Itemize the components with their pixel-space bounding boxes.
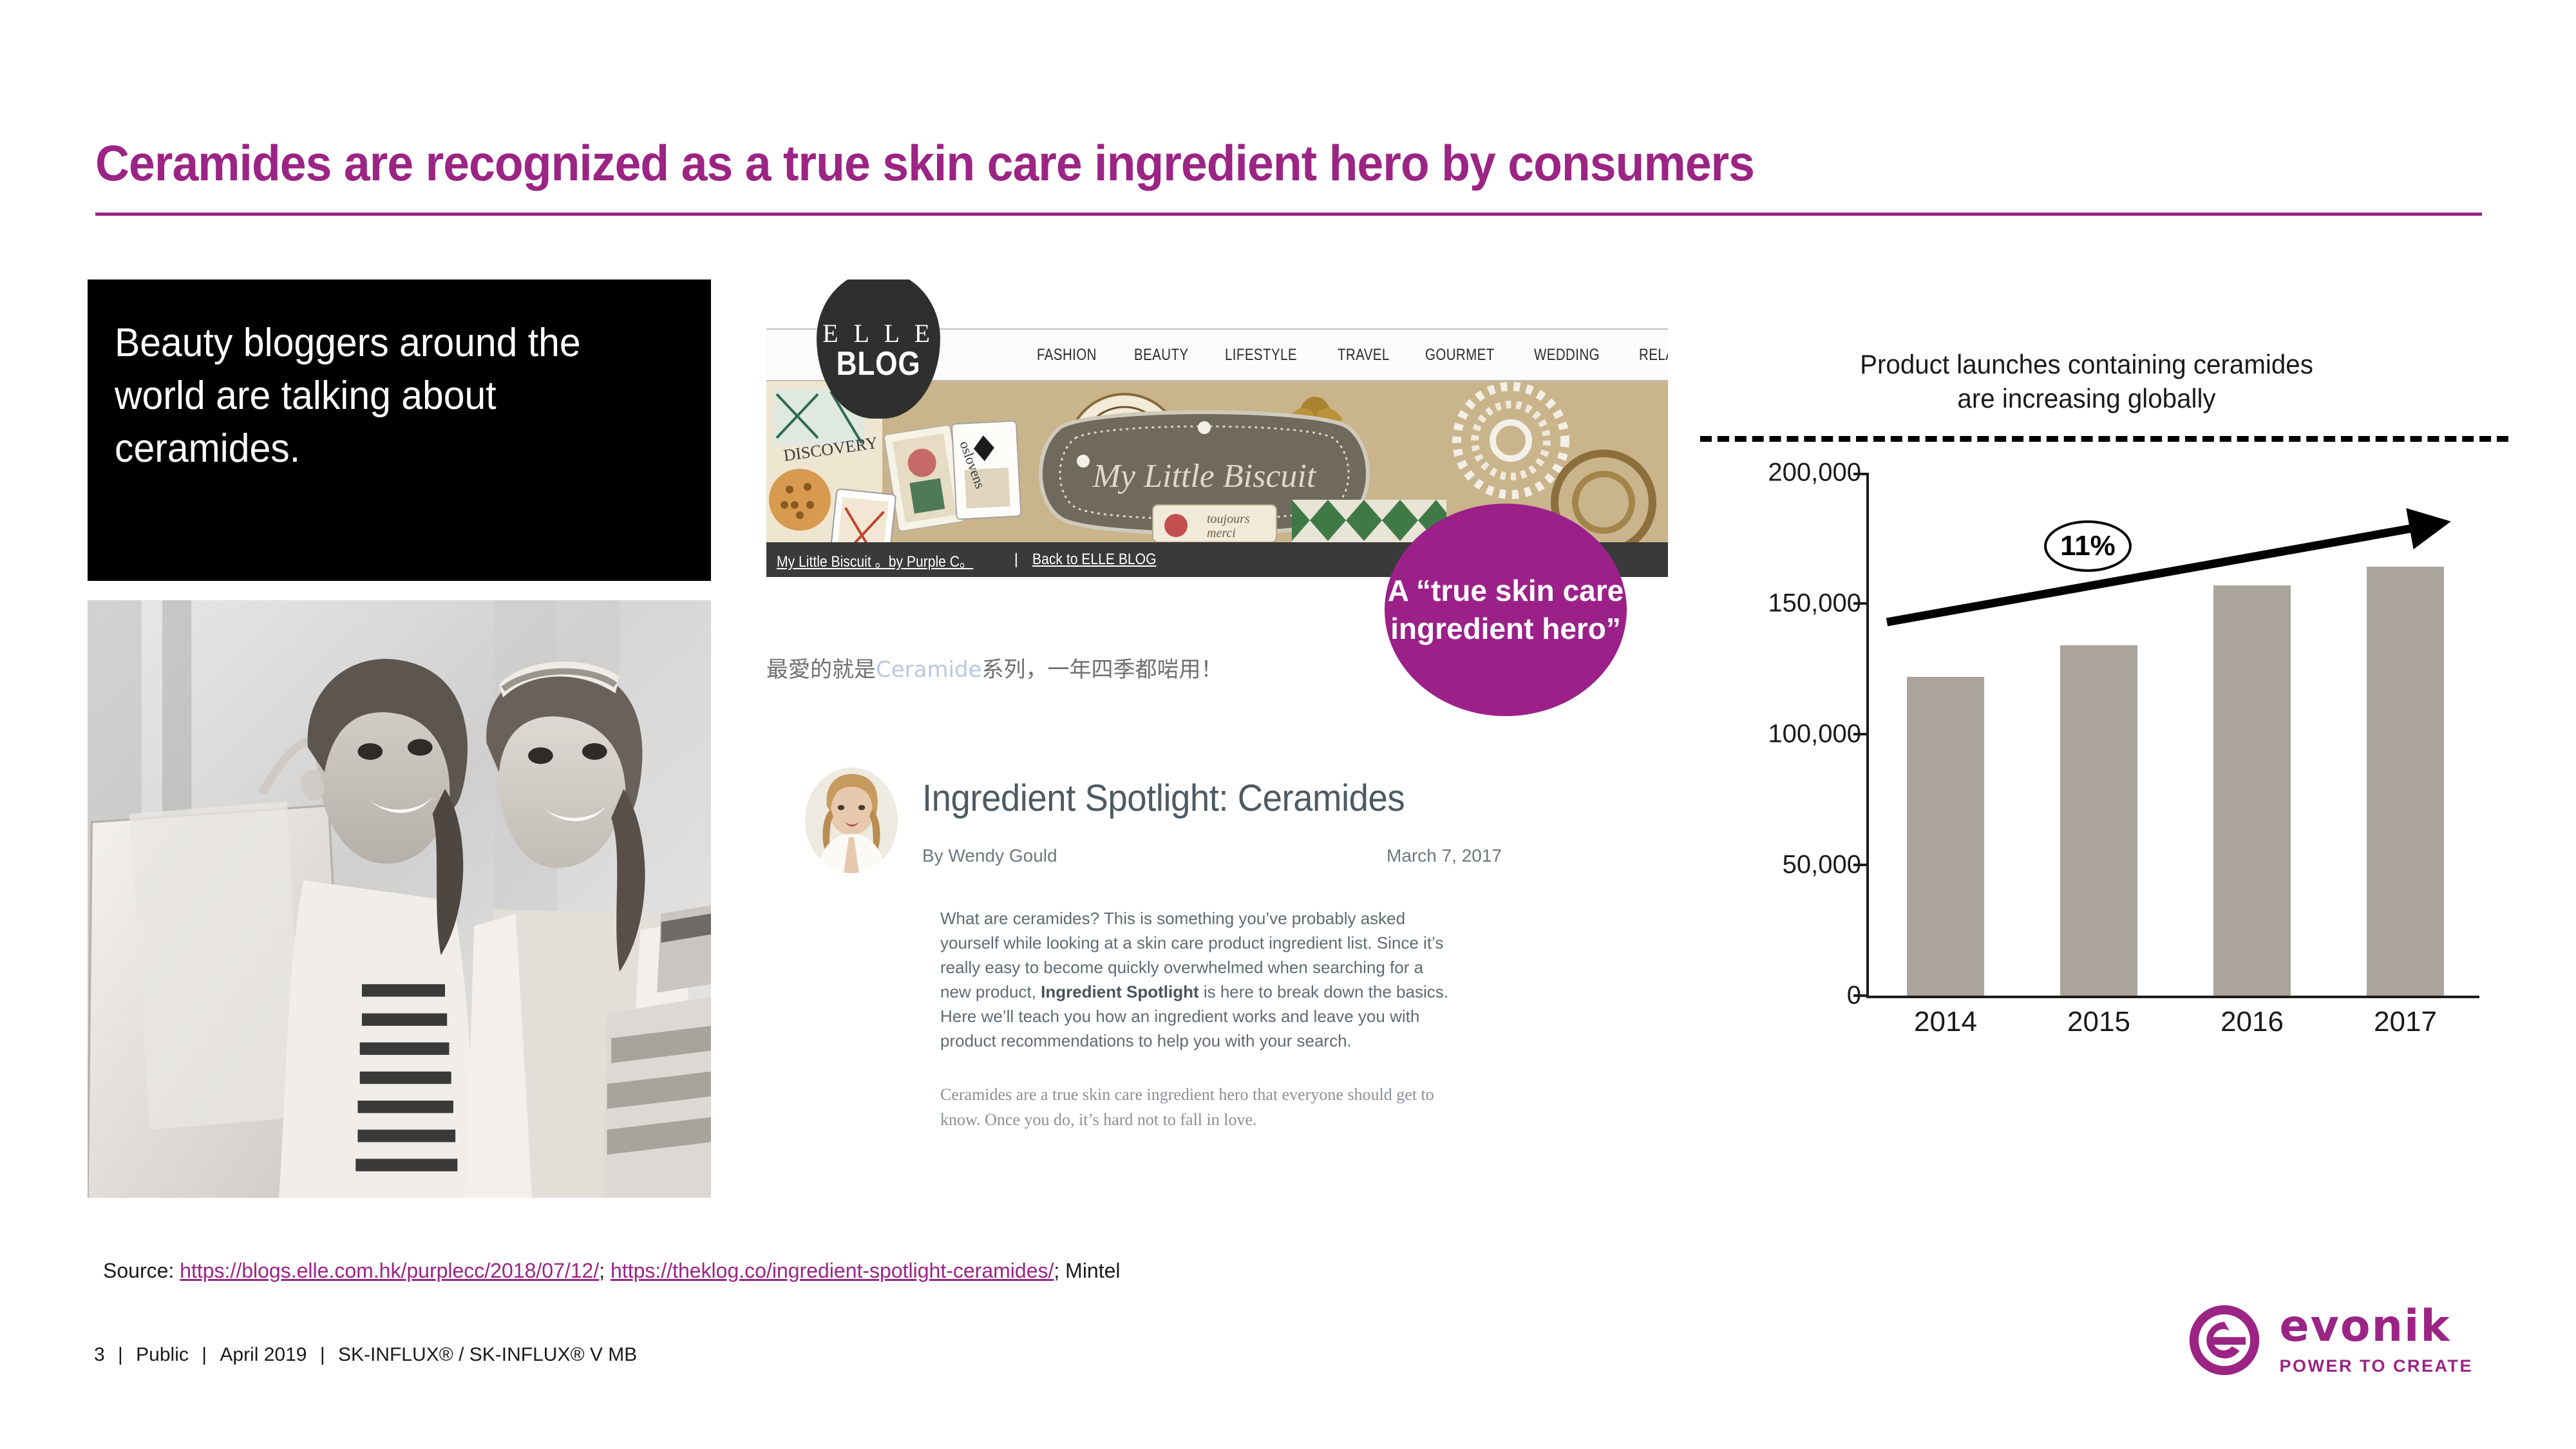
blog-nav-item-gourmet[interactable]: GOURMET <box>1425 346 1495 365</box>
author-avatar <box>805 768 898 873</box>
article-paragraph-1: What are ceramides? This is something yo… <box>940 907 1455 1054</box>
y-tickmark-50000 <box>1853 864 1868 866</box>
article-header-text: Ingredient Spotlight: Ceramides By Wendy… <box>922 768 1642 866</box>
blog-chinese-caption-post: 系列，一年四季都啱用！ <box>982 657 1223 683</box>
footer-deck-name: SK-INFLUX® / SK-INFLUX® V MB <box>338 1344 637 1365</box>
svg-text:merci: merci <box>1207 526 1236 540</box>
evonik-e-mark-icon <box>2186 1302 2262 1378</box>
blog-nav-item-beauty[interactable]: BEAUTY <box>1134 346 1188 365</box>
y-tick-label-150000: 150,000 <box>1768 589 1861 618</box>
article-paragraph-2: Ceramides are a true skin care ingredien… <box>940 1082 1449 1132</box>
svg-text:toujours: toujours <box>1207 512 1250 526</box>
article-author: By Wendy Gould <box>922 846 1057 866</box>
trend-arrow <box>1866 473 2510 730</box>
x-tick-label-2014: 2014 <box>1869 1006 2022 1038</box>
footer-sep-2: | <box>202 1344 207 1365</box>
article-header: Ingredient Spotlight: Ceramides By Wendy… <box>805 768 1642 873</box>
quote-box: Beauty bloggers around the world are tal… <box>88 279 711 581</box>
article-byline-row: By Wendy Gould March 7, 2017 <box>922 846 1502 866</box>
chart-title-line-2: are increasing globally <box>1722 382 2452 416</box>
cagr-badge: 11% <box>2044 520 2132 572</box>
blog-nav-item-relationship[interactable]: RELATIONSHIP <box>1639 346 1668 365</box>
blog-breadcrumb-separator: | <box>1014 551 1018 569</box>
source-link-theklog[interactable]: https://theklog.co/ingredient-spotlight-… <box>611 1259 1054 1282</box>
x-tick-label-2016: 2016 <box>2175 1006 2329 1038</box>
evonik-tagline: POWER TO CREATE <box>2279 1356 2473 1376</box>
y-axis-tick-labels: 0 50,000 100,000 150,000 200,000 <box>1687 473 1861 996</box>
page-title: Ceramides are recognized as a true skin … <box>95 134 2335 193</box>
footer-page-number: 3 <box>94 1344 105 1365</box>
footer-meta: 3 | Public | April 2019 | SK-INFLUX® / S… <box>90 1344 641 1366</box>
bar-chart: 0 50,000 100,000 150,000 200,000 2014 <box>1687 473 2524 1065</box>
evonik-wordmark-group: evonik POWER TO CREATE <box>2279 1305 2473 1376</box>
y-tickmark-200000 <box>1853 473 1868 475</box>
source-prefix: Source: <box>103 1259 180 1282</box>
footer-date: April 2019 <box>220 1344 307 1365</box>
evonik-logo: evonik POWER TO CREATE <box>2186 1302 2473 1378</box>
article-date: March 7, 2017 <box>1387 846 1502 866</box>
blog-breadcrumb-link-blogname[interactable]: My Little Biscuit 。by Purple C。 <box>777 549 973 571</box>
blog-logo-wordmark: BLOG <box>836 346 920 382</box>
y-tickmark-100000 <box>1853 733 1868 735</box>
blog-nav-item-wedding[interactable]: WEDDING <box>1534 346 1600 365</box>
evonik-wordmark: evonik <box>2279 1305 2473 1349</box>
chart-title-line-1: Product launches containing ceramides <box>1722 348 2452 382</box>
y-tick-label-50000: 50,000 <box>1783 851 1861 880</box>
article-body: What are ceramides? This is something yo… <box>940 907 1455 1132</box>
blog-chinese-caption-highlight: Ceramide <box>876 657 982 683</box>
chart-block: Product launches containing ceramides ar… <box>1687 348 2524 1065</box>
blog-chinese-caption: 最愛的就是Ceramide系列，一年四季都啱用！ <box>766 652 1223 683</box>
footer-sep-3: | <box>320 1344 325 1365</box>
article-paragraph-1-bold: Ingredient Spotlight <box>1041 982 1199 1001</box>
blog-nav-item-lifestyle[interactable]: LIFESTYLE <box>1225 346 1297 365</box>
chart-title: Product launches containing ceramides ar… <box>1722 348 2452 415</box>
blog-chinese-caption-pre: 最愛的就是 <box>766 657 876 683</box>
blog-breadcrumb-link-back[interactable]: Back to ELLE BLOG <box>1032 551 1157 569</box>
y-tick-label-200000: 200,000 <box>1768 459 1861 488</box>
footer-classification: Public <box>136 1344 189 1365</box>
source-link-elle[interactable]: https://blogs.elle.com.hk/purplecc/2018/… <box>180 1259 599 1282</box>
y-tickmark-0 <box>1853 994 1868 997</box>
trend-arrow-line <box>1887 526 2428 622</box>
x-axis-line <box>1866 996 2479 998</box>
blog-nav-item-fashion[interactable]: FASHION <box>1037 346 1097 365</box>
title-underline-rule <box>95 213 2482 216</box>
x-tick-label-2017: 2017 <box>2329 1006 2482 1038</box>
blog-nav-item-travel[interactable]: TRAVEL <box>1338 346 1390 365</box>
article-title: Ingredient Spotlight: Ceramides <box>922 777 1599 820</box>
y-tickmark-150000 <box>1853 602 1868 605</box>
theklog-article-screenshot: Ingredient Spotlight: Ceramides By Wendy… <box>805 768 1642 1132</box>
chart-dashed-divider <box>1700 436 2508 442</box>
shoppers-photo <box>88 600 711 1198</box>
shoppers-photo-illustration <box>88 600 711 1198</box>
source-line: Source: https://blogs.elle.com.hk/purple… <box>103 1259 1121 1283</box>
slide-canvas: Ceramides are recognized as a true skin … <box>0 0 2576 1449</box>
quote-text: Beauty bloggers around the world are tal… <box>115 317 654 475</box>
svg-text:My Little Biscuit: My Little Biscuit <box>1092 458 1317 495</box>
author-avatar-illustration <box>805 768 898 873</box>
y-tick-label-100000: 100,000 <box>1768 720 1861 749</box>
source-suffix: ; Mintel <box>1054 1259 1120 1282</box>
elle-logo-wordmark: E L L E <box>822 321 934 346</box>
callout-text: A “true skin care ingredient hero” <box>1385 572 1627 648</box>
callout-bubble: A “true skin care ingredient hero” <box>1385 504 1627 716</box>
x-tick-label-2015: 2015 <box>2022 1006 2175 1038</box>
source-mid: ; <box>599 1259 611 1282</box>
footer-sep-1: | <box>118 1344 123 1365</box>
